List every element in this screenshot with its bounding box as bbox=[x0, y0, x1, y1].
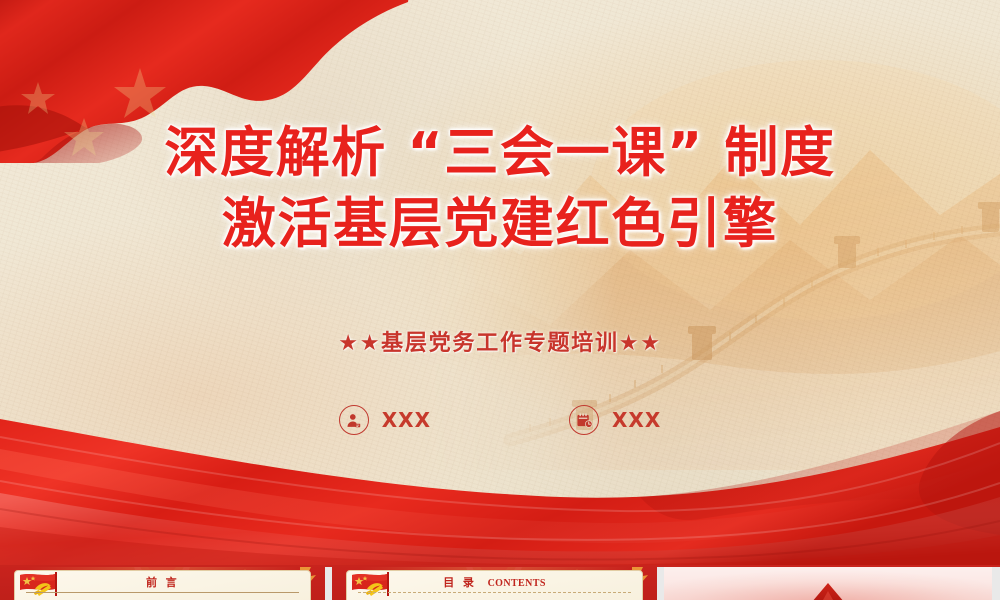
strip-divider bbox=[0, 565, 1000, 567]
red-arrow-mark-icon bbox=[798, 579, 858, 600]
title-line-secondary: 激活基层党建红色引擎 bbox=[0, 188, 1000, 260]
thumb-heading: 前 言 bbox=[0, 574, 325, 590]
calendar-clock-icon bbox=[569, 405, 599, 435]
title-slide-canvas: 深度解析 “三会一课” 制度 激活基层党建红色引擎 ★★基层党务工作专题培训★★… bbox=[0, 0, 1000, 565]
thumbnail-preface[interactable]: 前 言 bbox=[0, 565, 325, 600]
page-title: 深度解析 “三会一课” 制度 激活基层党建红色引擎 bbox=[0, 118, 1000, 260]
presentation-slide-root: 深度解析 “三会一课” 制度 激活基层党建红色引擎 ★★基层党务工作专题培训★★… bbox=[0, 0, 1000, 600]
thumb-heading-cn: 前 言 bbox=[146, 576, 179, 589]
presenter-field: XXX bbox=[339, 405, 431, 435]
thumb-heading-cn: 目 录 bbox=[443, 576, 476, 589]
date-field: XXX bbox=[569, 405, 661, 435]
thumbnail-contents[interactable]: 目 录 CONTENTS bbox=[332, 565, 657, 600]
title-line-primary: 深度解析 “三会一课” 制度 bbox=[0, 118, 1000, 188]
subtitle-text: ★★基层党务工作专题培训★★ bbox=[0, 325, 1000, 357]
presenter-value: XXX bbox=[382, 408, 431, 432]
person-icon bbox=[339, 405, 369, 435]
thumb-underline bbox=[26, 592, 299, 593]
thumb-underline bbox=[358, 592, 631, 593]
date-value: XXX bbox=[612, 408, 661, 432]
thumbnail-section[interactable] bbox=[664, 565, 992, 600]
slide-meta-row: XXX bbox=[0, 405, 1000, 435]
thumb-heading: 目 录 CONTENTS bbox=[332, 574, 657, 590]
slide-thumbnail-strip: 前 言 bbox=[0, 565, 1000, 600]
thumb-heading-en: CONTENTS bbox=[488, 578, 546, 589]
